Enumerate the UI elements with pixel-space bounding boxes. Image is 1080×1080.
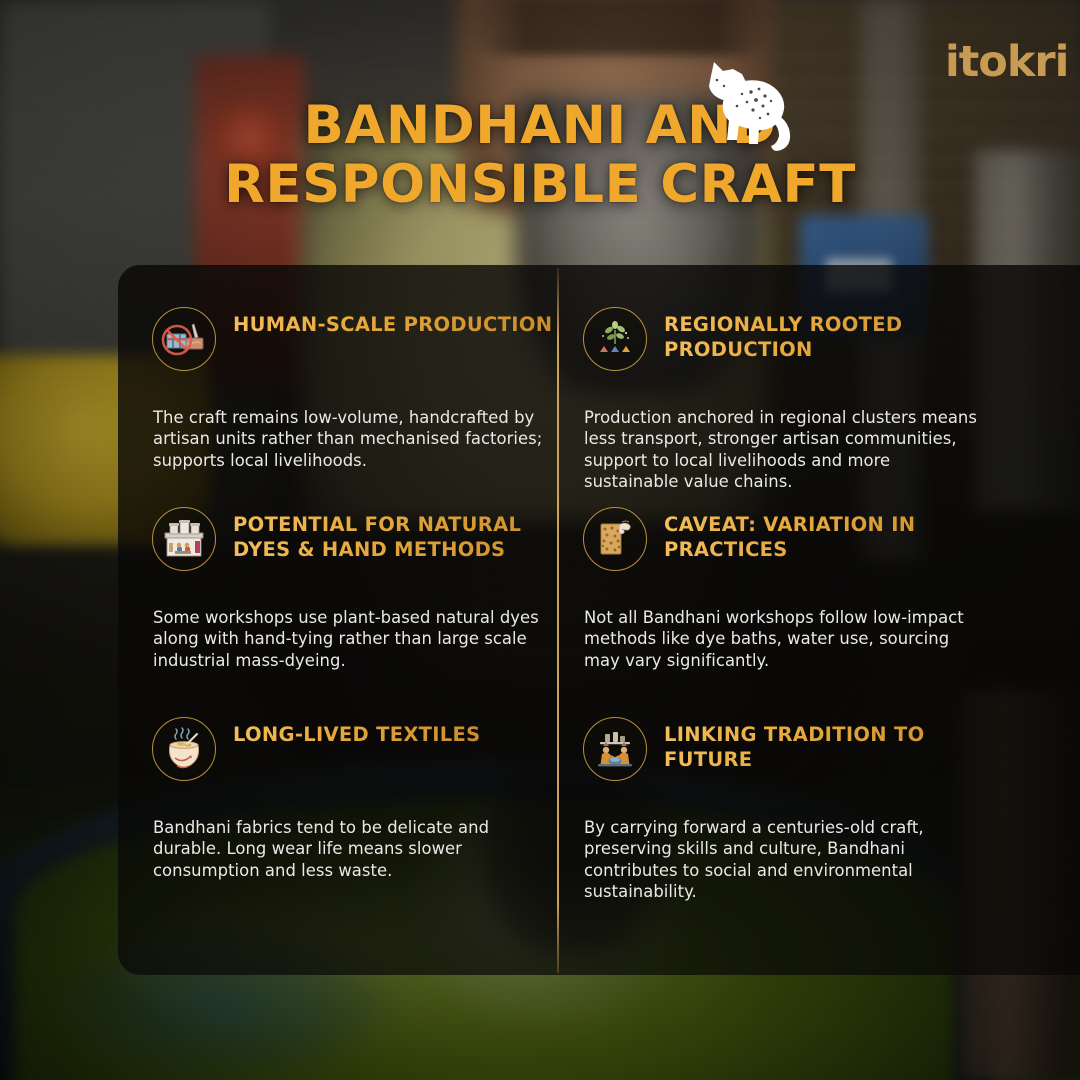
plant-dye-mounds-icon [583, 307, 647, 371]
no-factory-icon [152, 307, 216, 371]
card-body: The craft remains low-volume, handcrafte… [152, 407, 552, 471]
card-title: HUMAN-SCALE PRODUCTION [233, 307, 552, 338]
page-title: BANDHANI AND RESPONSIBLE CRAFT [0, 96, 1080, 215]
steaming-dye-pot-icon [152, 717, 216, 781]
card-title: LINKING TRADITION TO FUTURE [664, 717, 1003, 772]
card-body: By carrying forward a centuries-old craf… [583, 817, 983, 903]
feature-card-regionally-rooted-production[interactable]: REGIONALLY ROOTED PRODUCTION Production … [583, 307, 1003, 493]
feature-card-potential-for-natural-dyes[interactable]: POTENTIAL FOR NATURAL DYES & HAND METHOD… [152, 507, 572, 671]
card-header: REGIONALLY ROOTED PRODUCTION [583, 307, 1003, 379]
card-body: Production anchored in regional clusters… [583, 407, 983, 493]
brand-logo[interactable]: itokri [945, 36, 1050, 88]
card-title: CAVEAT: VARIATION IN PRACTICES [664, 507, 1003, 562]
brand-logo-text: itokri [945, 41, 1068, 84]
card-header: CAVEAT: VARIATION IN PRACTICES [583, 507, 1003, 579]
feature-card-caveat-variation-in-practices[interactable]: CAVEAT: VARIATION IN PRACTICES Not all B… [583, 507, 1003, 671]
infographic-canvas: itokri BANDHANI AND RESPONSIBLE CRAFT [0, 0, 1080, 1080]
feature-grid: HUMAN-SCALE PRODUCTION The craft remains… [118, 265, 1080, 975]
card-header: LONG-LIVED TEXTILES [152, 717, 572, 789]
title-line-2: RESPONSIBLE CRAFT [0, 155, 1080, 214]
feature-card-human-scale-production[interactable]: HUMAN-SCALE PRODUCTION The craft remains… [152, 307, 572, 471]
card-body: Some workshops use plant-based natural d… [152, 607, 552, 671]
title-line-1: BANDHANI AND [0, 96, 1080, 155]
feature-card-linking-tradition-to-future[interactable]: LINKING TRADITION TO FUTURE By carrying … [583, 717, 1003, 903]
card-title: REGIONALLY ROOTED PRODUCTION [664, 307, 1003, 362]
two-artisans-icon [583, 717, 647, 781]
card-title: POTENTIAL FOR NATURAL DYES & HAND METHOD… [233, 507, 572, 562]
feature-card-long-lived-textiles[interactable]: LONG-LIVED TEXTILES Bandhani fabrics ten… [152, 717, 572, 881]
card-header: LINKING TRADITION TO FUTURE [583, 717, 1003, 789]
card-header: POTENTIAL FOR NATURAL DYES & HAND METHOD… [152, 507, 572, 579]
hand-holding-fabric-icon [583, 507, 647, 571]
card-body: Not all Bandhani workshops follow low-im… [583, 607, 983, 671]
card-title: LONG-LIVED TEXTILES [233, 717, 481, 748]
card-header: HUMAN-SCALE PRODUCTION [152, 307, 572, 379]
cat-silhouette-icon [693, 58, 801, 158]
workshop-building-icon [152, 507, 216, 571]
card-body: Bandhani fabrics tend to be delicate and… [152, 817, 552, 881]
